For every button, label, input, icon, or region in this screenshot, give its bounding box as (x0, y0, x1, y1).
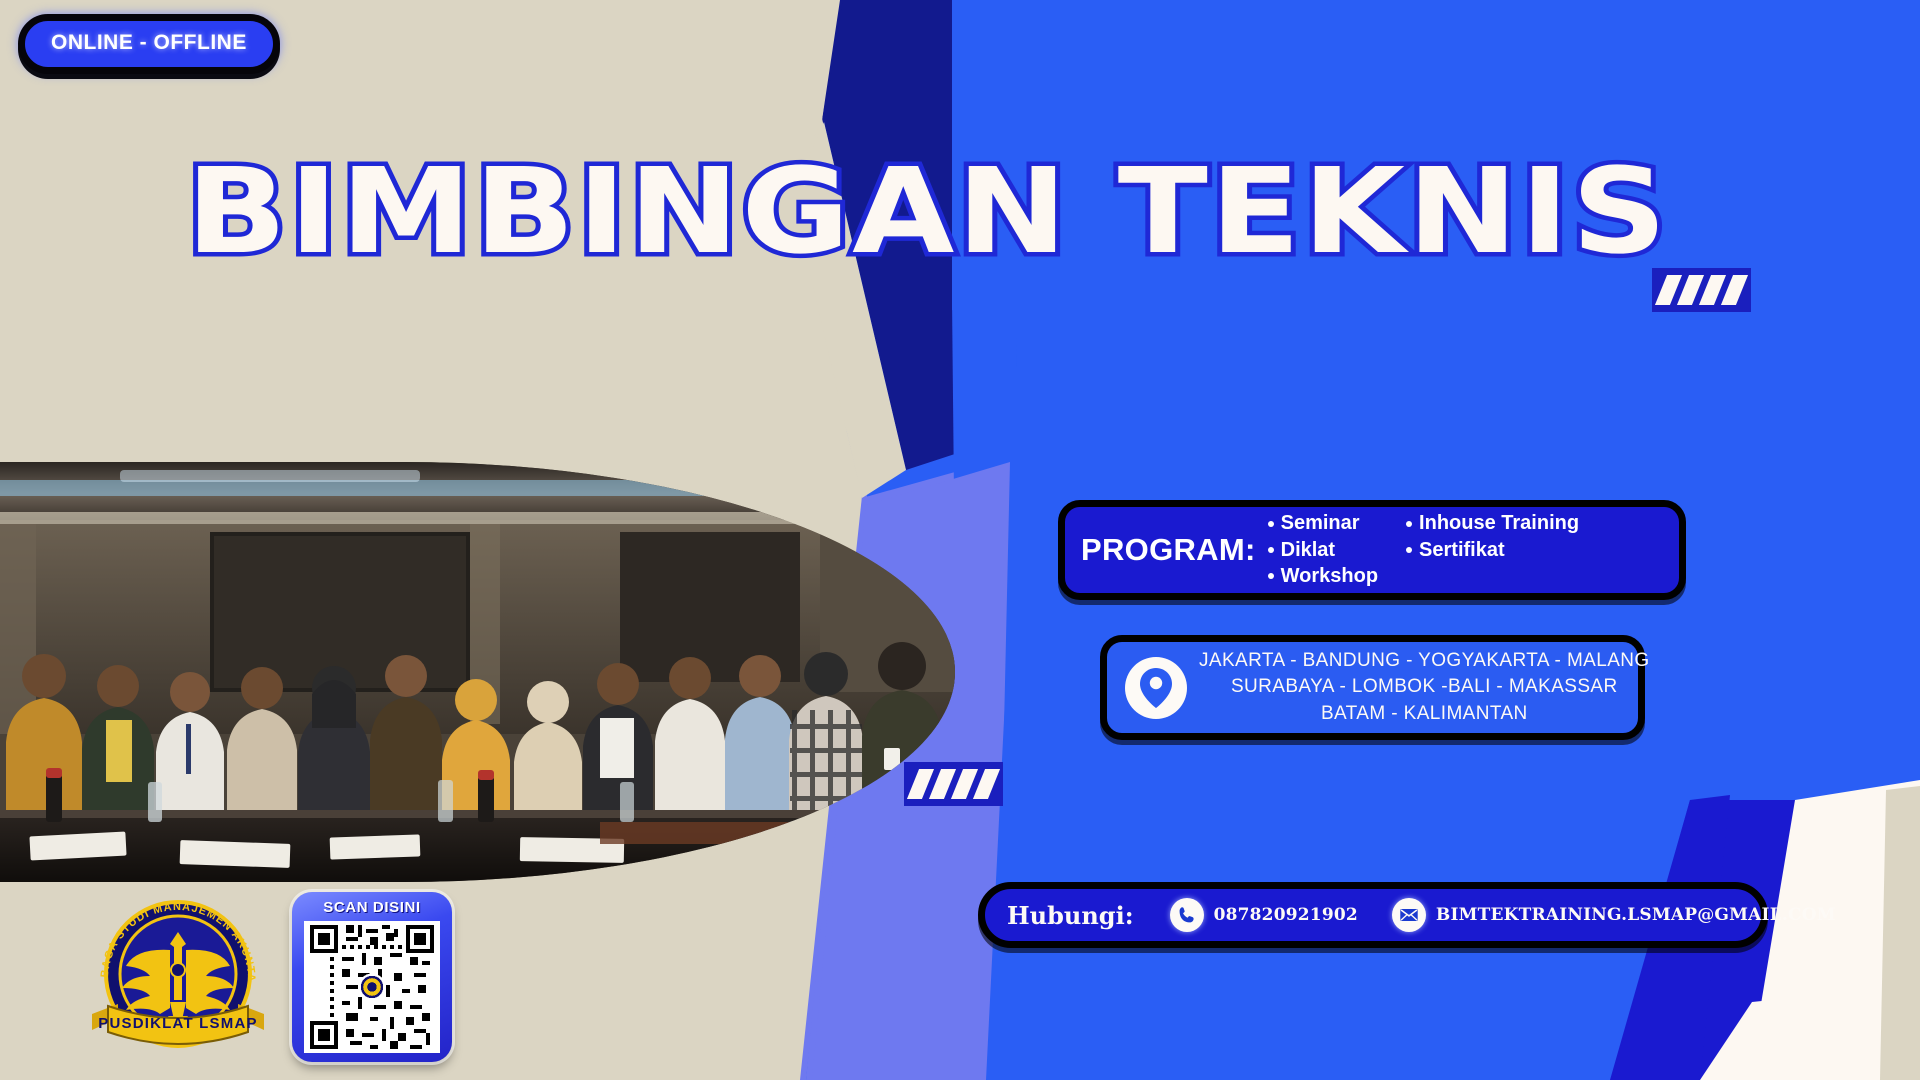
program-columns: Seminar Diklat Workshop Inhouse Training (1268, 511, 1579, 588)
contact-label: Hubungi: (1007, 901, 1134, 930)
pusdiklat-lsmap-logo: LEMBAGA STUDI MANAJEMEN AKUNTANSI DAN PE… (84, 888, 272, 1058)
bullet-icon (1406, 547, 1412, 553)
qr-code-image[interactable] (304, 921, 440, 1053)
envelope-icon (1392, 898, 1426, 932)
program-item: Diklat (1268, 538, 1378, 562)
page-title: BIMBINGAN TEKNIS (186, 152, 1510, 270)
contact-email[interactable]: BIMTEKTRAINING.LSMAP@GMAIL.COM (1392, 898, 1836, 932)
bullet-icon (1406, 521, 1412, 527)
program-item: Workshop (1268, 564, 1378, 588)
bullet-icon (1268, 521, 1274, 527)
diagonal-stripes-decoration-top (1652, 268, 1751, 312)
program-column-1: Seminar Diklat Workshop (1268, 511, 1378, 588)
envelope-icon-svg (1398, 904, 1420, 926)
online-offline-label: ONLINE - OFFLINE (51, 31, 247, 55)
qr-title: SCAN DISINI (323, 899, 420, 916)
contact-phone[interactable]: 087820921902 (1170, 898, 1358, 932)
logo-banner-text: PUSDIKLAT LSMAP (98, 1015, 257, 1032)
location-pin-svg (1139, 667, 1173, 709)
training-group-photo (0, 462, 955, 882)
program-item-label: Inhouse Training (1419, 511, 1579, 535)
logo-seal-svg: LEMBAGA STUDI MANAJEMEN AKUNTANSI DAN PE… (84, 888, 272, 1058)
program-item-label: Workshop (1281, 564, 1378, 588)
stripe-bar (1721, 275, 1748, 305)
location-line: SURABAYA - LOMBOK -BALI - MAKASSAR (1231, 675, 1618, 699)
stripe-bar (973, 769, 1000, 799)
locations-card: JAKARTA - BANDUNG - YOGYAKARTA - MALANG … (1100, 635, 1645, 740)
location-line: BATAM - KALIMANTAN (1321, 702, 1528, 726)
program-item-label: Sertifikat (1419, 538, 1505, 562)
program-item-label: Diklat (1281, 538, 1335, 562)
phone-number: 087820921902 (1214, 905, 1358, 925)
program-item: Inhouse Training (1406, 511, 1579, 535)
online-offline-badge[interactable]: ONLINE - OFFLINE (18, 14, 280, 74)
program-card: PROGRAM: Seminar Diklat Workshop (1058, 500, 1686, 600)
contact-bar: Hubungi: 087820921902 BIMTEKTRAINING.LSM… (978, 882, 1768, 948)
page-title-text: BIMBINGAN TEKNIS (186, 152, 1669, 270)
location-lines: JAKARTA - BANDUNG - YOGYAKARTA - MALANG … (1199, 649, 1650, 726)
photo-inner (0, 462, 955, 882)
phone-icon-svg (1176, 904, 1198, 926)
bullet-icon (1268, 573, 1274, 579)
qr-scan-card[interactable]: SCAN DISINI (292, 892, 452, 1062)
email-address: BIMTEKTRAINING.LSMAP@GMAIL.COM (1436, 905, 1836, 925)
program-label: PROGRAM: (1081, 532, 1256, 568)
location-line: JAKARTA - BANDUNG - YOGYAKARTA - MALANG (1199, 649, 1650, 673)
photo-illustration-svg (0, 462, 955, 882)
location-pin-icon (1125, 657, 1187, 719)
bullet-icon (1268, 547, 1274, 553)
program-column-2: Inhouse Training Sertifikat (1406, 511, 1579, 588)
program-item: Seminar (1268, 511, 1378, 535)
qr-code-svg (304, 921, 440, 1053)
promotional-poster: ONLINE - OFFLINE BIMBINGAN TEKNIS (0, 0, 1920, 1080)
program-item-label: Seminar (1281, 511, 1360, 535)
phone-icon (1170, 898, 1204, 932)
program-item: Sertifikat (1406, 538, 1579, 562)
